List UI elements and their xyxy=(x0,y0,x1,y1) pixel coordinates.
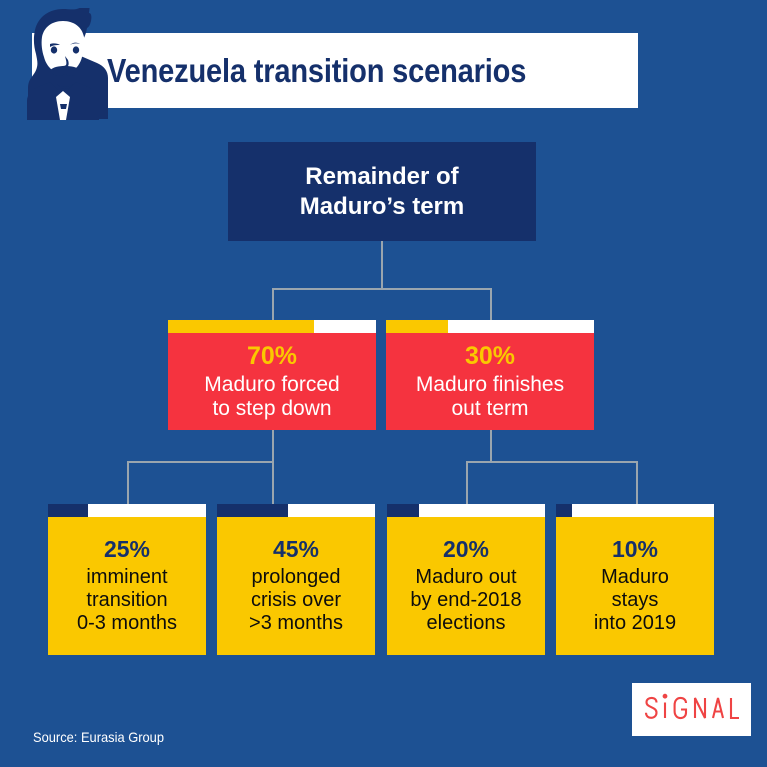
signal-logo[interactable] xyxy=(632,683,751,736)
percent-bar-rest xyxy=(419,504,545,517)
node-label-line1: Maduro xyxy=(601,566,669,589)
percent-bar xyxy=(48,504,206,517)
percent-bar xyxy=(556,504,714,517)
node-percent: 25% xyxy=(104,536,150,563)
percent-bar-fill xyxy=(387,504,419,517)
percent-bar-fill xyxy=(48,504,88,517)
node-label-line2: to step down xyxy=(212,397,331,421)
node-prolonged-crisis[interactable]: 45% prolonged crisis over >3 months xyxy=(217,504,375,655)
percent-bar xyxy=(217,504,375,517)
connector-level2-right-stem xyxy=(490,288,492,320)
source-credit: Source: Eurasia Group xyxy=(33,729,164,745)
connector-level3-child3-stem xyxy=(466,461,468,504)
node-label-line1: Maduro forced xyxy=(204,373,339,397)
node-label-line2: out term xyxy=(451,397,528,421)
node-percent: 30% xyxy=(465,342,515,371)
percent-bar-fill xyxy=(168,320,314,333)
percent-bar-rest xyxy=(572,504,714,517)
connector-level3-child2-stem xyxy=(272,461,274,504)
node-root[interactable]: Remainder of Maduro’s term xyxy=(228,142,536,241)
node-percent: 10% xyxy=(612,536,658,563)
node-percent: 45% xyxy=(273,536,319,563)
connector-level2-left-stem xyxy=(272,288,274,320)
connector-root-stem xyxy=(381,241,383,289)
percent-bar-fill xyxy=(217,504,288,517)
node-maduro-out-2018[interactable]: 20% Maduro out by end-2018 elections xyxy=(387,504,545,655)
root-line1: Remainder of xyxy=(300,162,464,192)
node-label-line1: Maduro finishes xyxy=(416,373,564,397)
connector-level2-bar xyxy=(272,288,492,290)
node-label-line1: prolonged xyxy=(252,566,341,589)
node-maduro-finishes-term[interactable]: 30% Maduro finishes out term xyxy=(386,320,594,430)
percent-bar xyxy=(387,504,545,517)
node-maduro-forced-out[interactable]: 70% Maduro forced to step down xyxy=(168,320,376,430)
node-label-line2: crisis over xyxy=(251,589,341,612)
connector-red-right-stem xyxy=(490,430,492,462)
percent-bar-rest xyxy=(314,320,376,333)
percent-bar xyxy=(168,320,376,333)
percent-bar-rest xyxy=(88,504,207,517)
connector-red-left-stem xyxy=(272,430,274,462)
node-label-line3: >3 months xyxy=(249,612,343,635)
root-line2: Maduro’s term xyxy=(300,192,464,222)
maduro-portrait-icon xyxy=(22,8,108,120)
node-label-line2: transition xyxy=(86,589,167,612)
node-label-line3: into 2019 xyxy=(594,612,676,635)
node-label-line2: by end-2018 xyxy=(410,589,521,612)
signal-logo-icon xyxy=(642,692,742,728)
node-label-line3: 0-3 months xyxy=(77,612,177,635)
percent-bar-fill xyxy=(556,504,572,517)
connector-level3-child1-stem xyxy=(127,461,129,504)
connector-level3-left-bar xyxy=(127,461,274,463)
node-label-line3: elections xyxy=(427,612,506,635)
page-title: Venezuela transition scenarios xyxy=(107,33,573,108)
connector-level3-right-bar xyxy=(466,461,638,463)
node-imminent-transition[interactable]: 25% imminent transition 0-3 months xyxy=(48,504,206,655)
percent-bar-rest xyxy=(288,504,375,517)
node-label-line2: stays xyxy=(612,589,659,612)
infographic-canvas: Venezuela transition scenarios Remainder… xyxy=(0,0,767,767)
node-maduro-stays-2019[interactable]: 10% Maduro stays into 2019 xyxy=(556,504,714,655)
connector-level3-child4-stem xyxy=(636,461,638,504)
node-label-line1: imminent xyxy=(86,566,167,589)
node-percent: 70% xyxy=(247,342,297,371)
percent-bar-fill xyxy=(386,320,448,333)
node-label-line1: Maduro out xyxy=(415,566,516,589)
percent-bar xyxy=(386,320,594,333)
node-percent: 20% xyxy=(443,536,489,563)
percent-bar-rest xyxy=(448,320,594,333)
